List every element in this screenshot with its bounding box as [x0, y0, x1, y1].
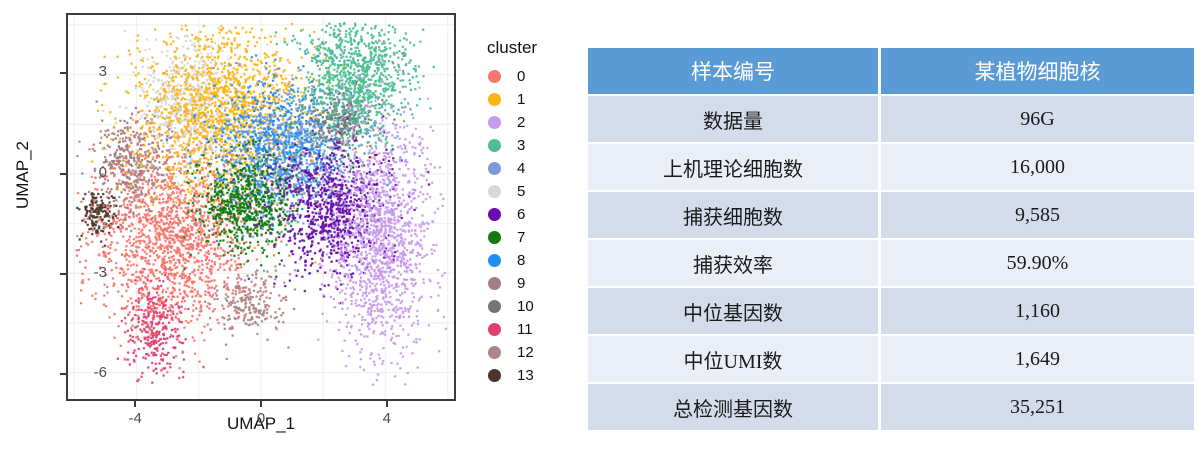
table-body: 数据量96G上机理论细胞数16,000捕获细胞数9,585捕获效率59.90%中… [588, 96, 1194, 432]
legend-item-8[interactable]: 8 [484, 249, 570, 272]
y-tick-mark [60, 373, 66, 375]
y-axis-title: UMAP_2 [13, 135, 33, 215]
legend-item-10[interactable]: 10 [484, 295, 570, 318]
y-tick-label: 0 [67, 164, 107, 181]
sample-statistics-table: 样本编号 某植物细胞核 数据量96G上机理论细胞数16,000捕获细胞数9,58… [588, 48, 1194, 432]
column-header-sample: 某植物细胞核 [881, 48, 1194, 96]
legend-title: cluster [487, 38, 570, 58]
x-tick-mark [260, 401, 262, 407]
legend-item-13[interactable]: 13 [484, 364, 570, 387]
legend-item-9[interactable]: 9 [484, 272, 570, 295]
umap-scatter-canvas [68, 15, 454, 399]
table-row: 总检测基因数35,251 [588, 384, 1194, 432]
table-cell-value: 16,000 [881, 144, 1194, 192]
legend-item-7[interactable]: 7 [484, 226, 570, 249]
legend-item-label: 12 [517, 344, 534, 361]
table-cell-value: 9,585 [881, 192, 1194, 240]
legend-item-6[interactable]: 6 [484, 203, 570, 226]
legend-swatch-icon [488, 185, 501, 198]
table-row: 捕获细胞数9,585 [588, 192, 1194, 240]
table-header: 样本编号 某植物细胞核 [588, 48, 1194, 96]
legend-swatch-icon [488, 254, 501, 267]
y-tick-mark [60, 173, 66, 175]
legend-swatch-icon [488, 346, 501, 359]
legend-item-label: 4 [517, 160, 525, 177]
table-cell-metric: 总检测基因数 [588, 384, 881, 432]
legend-item-1[interactable]: 1 [484, 88, 570, 111]
y-tick-mark [60, 72, 66, 74]
x-tick-label: 4 [367, 410, 407, 427]
y-tick-label: -3 [67, 264, 107, 281]
legend-item-label: 7 [517, 229, 525, 246]
x-tick-mark [386, 401, 388, 407]
table-cell-value: 1,160 [881, 288, 1194, 336]
table-row: 上机理论细胞数16,000 [588, 144, 1194, 192]
legend-item-2[interactable]: 2 [484, 111, 570, 134]
legend-item-4[interactable]: 4 [484, 157, 570, 180]
legend-swatch-icon [488, 93, 501, 106]
column-header-metric: 样本编号 [588, 48, 881, 96]
table-header-row: 样本编号 某植物细胞核 [588, 48, 1194, 96]
legend-item-0[interactable]: 0 [484, 65, 570, 88]
legend-item-label: 13 [517, 367, 534, 384]
legend-item-label: 9 [517, 275, 525, 292]
legend-swatch-icon [488, 300, 501, 313]
legend-swatch-icon [488, 116, 501, 129]
legend-item-label: 2 [517, 114, 525, 131]
table-cell-metric: 数据量 [588, 96, 881, 144]
legend-item-label: 8 [517, 252, 525, 269]
legend-items: 012345678910111213 [484, 65, 570, 387]
legend-item-3[interactable]: 3 [484, 134, 570, 157]
table-cell-value: 96G [881, 96, 1194, 144]
table-row: 中位基因数1,160 [588, 288, 1194, 336]
x-tick-label: 0 [241, 410, 281, 427]
legend-item-label: 11 [517, 321, 533, 338]
table-cell-metric: 中位UMI数 [588, 336, 881, 384]
table-row: 数据量96G [588, 96, 1194, 144]
x-tick-label: -4 [115, 410, 155, 427]
y-tick-label: 3 [67, 63, 107, 80]
legend-swatch-icon [488, 277, 501, 290]
table-cell-metric: 上机理论细胞数 [588, 144, 881, 192]
x-tick-mark [134, 401, 136, 407]
table-cell-value: 1,649 [881, 336, 1194, 384]
legend-item-label: 0 [517, 68, 525, 85]
legend-swatch-icon [488, 139, 501, 152]
legend-item-5[interactable]: 5 [484, 180, 570, 203]
y-tick-mark [60, 273, 66, 275]
umap-plot-panel [66, 13, 456, 401]
legend-item-label: 5 [517, 183, 525, 200]
legend-item-label: 10 [517, 298, 534, 315]
cluster-legend: cluster 012345678910111213 [484, 38, 570, 387]
legend-item-12[interactable]: 12 [484, 341, 570, 364]
legend-item-label: 3 [517, 137, 525, 154]
table-cell-metric: 捕获效率 [588, 240, 881, 288]
legend-item-label: 1 [517, 91, 525, 108]
table-cell-value: 59.90% [881, 240, 1194, 288]
legend-swatch-icon [488, 162, 501, 175]
table-cell-value: 35,251 [881, 384, 1194, 432]
legend-swatch-icon [488, 323, 501, 336]
legend-swatch-icon [488, 231, 501, 244]
legend-item-11[interactable]: 11 [484, 318, 570, 341]
legend-swatch-icon [488, 70, 501, 83]
table-row: 中位UMI数1,649 [588, 336, 1194, 384]
legend-item-label: 6 [517, 206, 525, 223]
legend-swatch-icon [488, 208, 501, 221]
legend-swatch-icon [488, 369, 501, 382]
table-cell-metric: 中位基因数 [588, 288, 881, 336]
y-tick-label: -6 [67, 364, 107, 381]
table-cell-metric: 捕获细胞数 [588, 192, 881, 240]
table-row: 捕获效率59.90% [588, 240, 1194, 288]
